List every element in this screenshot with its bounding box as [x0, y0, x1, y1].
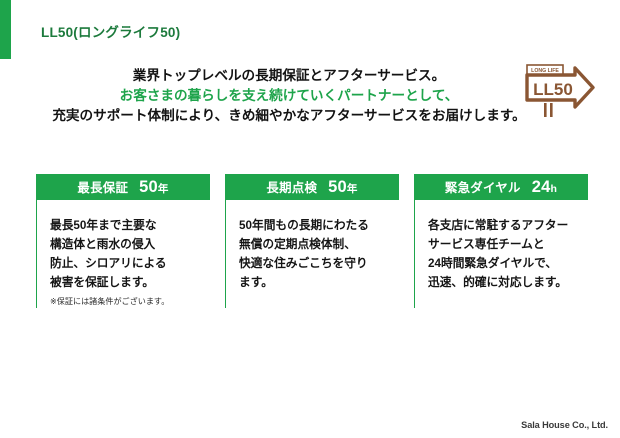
panel-body-text: 各支店に常駐するアフター サービス専任チームと 24時間緊急ダイヤルで、 迅速、…	[428, 216, 588, 292]
footer-company-name: Sala House Co., Ltd.	[521, 420, 608, 430]
lead-line-2: お客さまの暮らしを支え続けていくパートナーとして、	[40, 86, 538, 106]
sign-label-text: LL50	[533, 80, 573, 99]
lead-paragraph: 業界トップレベルの長期保証とアフターサービス。 お客さまの暮らしを支え続けていく…	[40, 66, 538, 126]
panel-body-note: ※保証には諸条件がございます。	[50, 297, 210, 308]
feature-panel-inspection: 長期点検 50年 50年間もの長期にわたる 無償の定期点検体制、 快適な住みごこ…	[225, 174, 399, 308]
lead-line-3: 充実のサポート体制により、きめ細やかなアフターサービスをお届けします。	[40, 106, 538, 126]
panel-header-unit: 年	[347, 183, 358, 195]
sign-banner-text: LONG LIFE	[531, 68, 559, 74]
panel-body: 50年間もの長期にわたる 無償の定期点検体制、 快適な住みごこちを守り ます。	[225, 200, 399, 308]
feature-panel-emergency-dial: 緊急ダイヤル 24h 各支店に常駐するアフター サービス専任チームと 24時間緊…	[414, 174, 588, 308]
accent-bar	[0, 0, 11, 59]
panel-header: 最長保証 50年	[36, 174, 210, 200]
panel-header-label: 緊急ダイヤル	[445, 178, 521, 196]
lead-line-1: 業界トップレベルの長期保証とアフターサービス。	[40, 66, 538, 86]
page-title: LL50(ロングライフ50)	[41, 21, 180, 41]
panel-header-number: 50	[139, 178, 158, 196]
panel-header-label: 長期点検	[266, 178, 317, 196]
panel-header-unit: h	[550, 183, 557, 195]
feature-panel-warranty: 最長保証 50年 最長50年まで主要な 構造体と雨水の侵入 防止、シロアリによる…	[36, 174, 210, 308]
panel-header-number: 24	[532, 178, 551, 196]
feature-panel-group: 最長保証 50年 最長50年まで主要な 構造体と雨水の侵入 防止、シロアリによる…	[36, 174, 588, 308]
panel-header-value: 50年	[328, 178, 357, 197]
panel-body-text: 50年間もの長期にわたる 無償の定期点検体制、 快適な住みごこちを守り ます。	[239, 216, 399, 292]
panel-header: 長期点検 50年	[225, 174, 399, 200]
panel-header-number: 50	[328, 178, 347, 196]
panel-header: 緊急ダイヤル 24h	[414, 174, 588, 200]
panel-header-value: 50年	[139, 178, 168, 197]
panel-header-label: 最長保証	[77, 178, 128, 196]
ll50-road-sign: LONG LIFE LL50	[513, 63, 595, 119]
panel-body-text: 最長50年まで主要な 構造体と雨水の侵入 防止、シロアリによる 被害を保証します…	[50, 216, 210, 292]
panel-body: 最長50年まで主要な 構造体と雨水の侵入 防止、シロアリによる 被害を保証します…	[36, 200, 210, 308]
panel-body: 各支店に常駐するアフター サービス専任チームと 24時間緊急ダイヤルで、 迅速、…	[414, 200, 588, 308]
panel-header-unit: 年	[158, 183, 169, 195]
slide-canvas: LL50(ロングライフ50) 業界トップレベルの長期保証とアフターサービス。 お…	[0, 0, 620, 438]
panel-header-value: 24h	[532, 178, 557, 197]
